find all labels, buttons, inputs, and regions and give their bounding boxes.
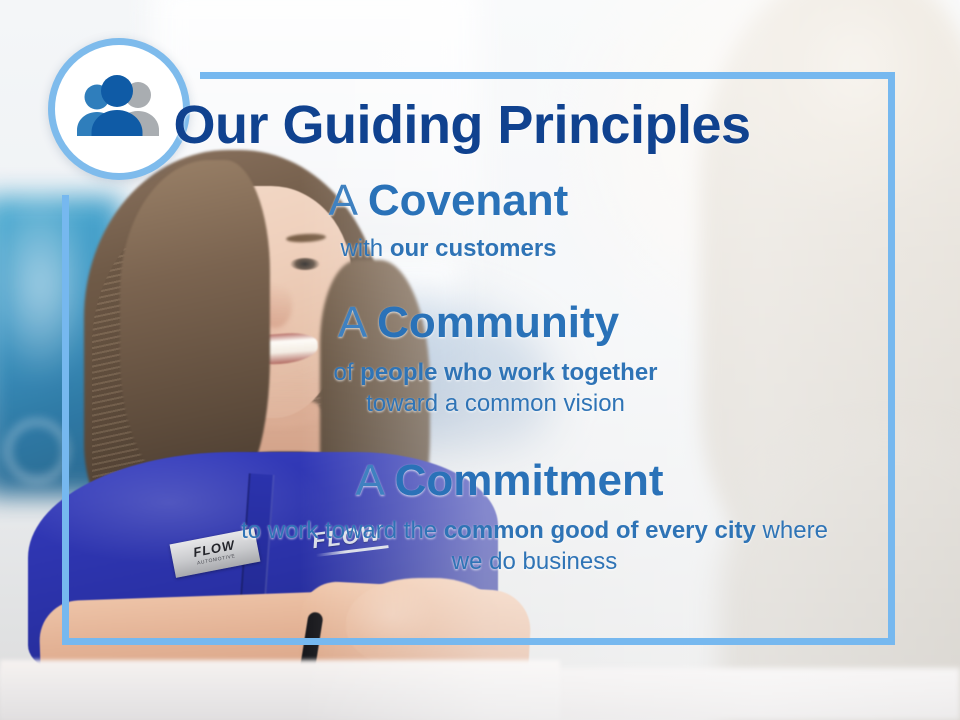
- principle-key-word: Commitment: [395, 456, 664, 505]
- principle-community: A Community of people who work together …: [62, 300, 895, 419]
- subtext-line-1: to work toward the common good of every …: [174, 515, 895, 546]
- subtext-prefix: of: [333, 359, 360, 386]
- principle-subtext: of people who work together toward a com…: [62, 357, 895, 419]
- subtext-prefix: with: [340, 235, 389, 262]
- page-title: Our Guiding Principles: [62, 94, 862, 156]
- subtext-bold: people who work together: [360, 359, 657, 386]
- principle-headline: A Community: [62, 300, 895, 347]
- principle-headline: A Commitment: [62, 458, 895, 505]
- principle-headline: A Covenant: [62, 178, 895, 225]
- guiding-principles-poster: FLOW AUTOMOTIVE FLOW: [0, 0, 960, 720]
- principle-key-word: Community: [377, 298, 619, 347]
- principle-subtext: to work toward the common good of every …: [62, 515, 895, 577]
- subtext-prefix: to work toward the: [241, 517, 444, 544]
- subtext-bold: our customers: [390, 235, 557, 262]
- principle-subtext: with our customers: [62, 233, 895, 264]
- subtext-suffix: where: [756, 517, 828, 544]
- subtext-line-2: we do business: [174, 546, 895, 577]
- employee-desk-edge: [0, 660, 560, 720]
- subtext-line-1: of people who work together: [96, 357, 895, 388]
- poster-text-content: Our Guiding Principles A Covenant with o…: [62, 72, 895, 645]
- subtext-bold: common good of every city: [444, 517, 756, 544]
- principle-covenant: A Covenant with our customers: [62, 178, 895, 264]
- principle-key-word: Covenant: [368, 176, 568, 225]
- principle-commitment: A Commitment to work toward the common g…: [62, 458, 895, 577]
- principle-lead-word: A: [329, 176, 356, 225]
- subtext-line-2: toward a common vision: [96, 388, 895, 419]
- principle-lead-word: A: [338, 298, 365, 347]
- principle-lead-word: A: [355, 456, 382, 505]
